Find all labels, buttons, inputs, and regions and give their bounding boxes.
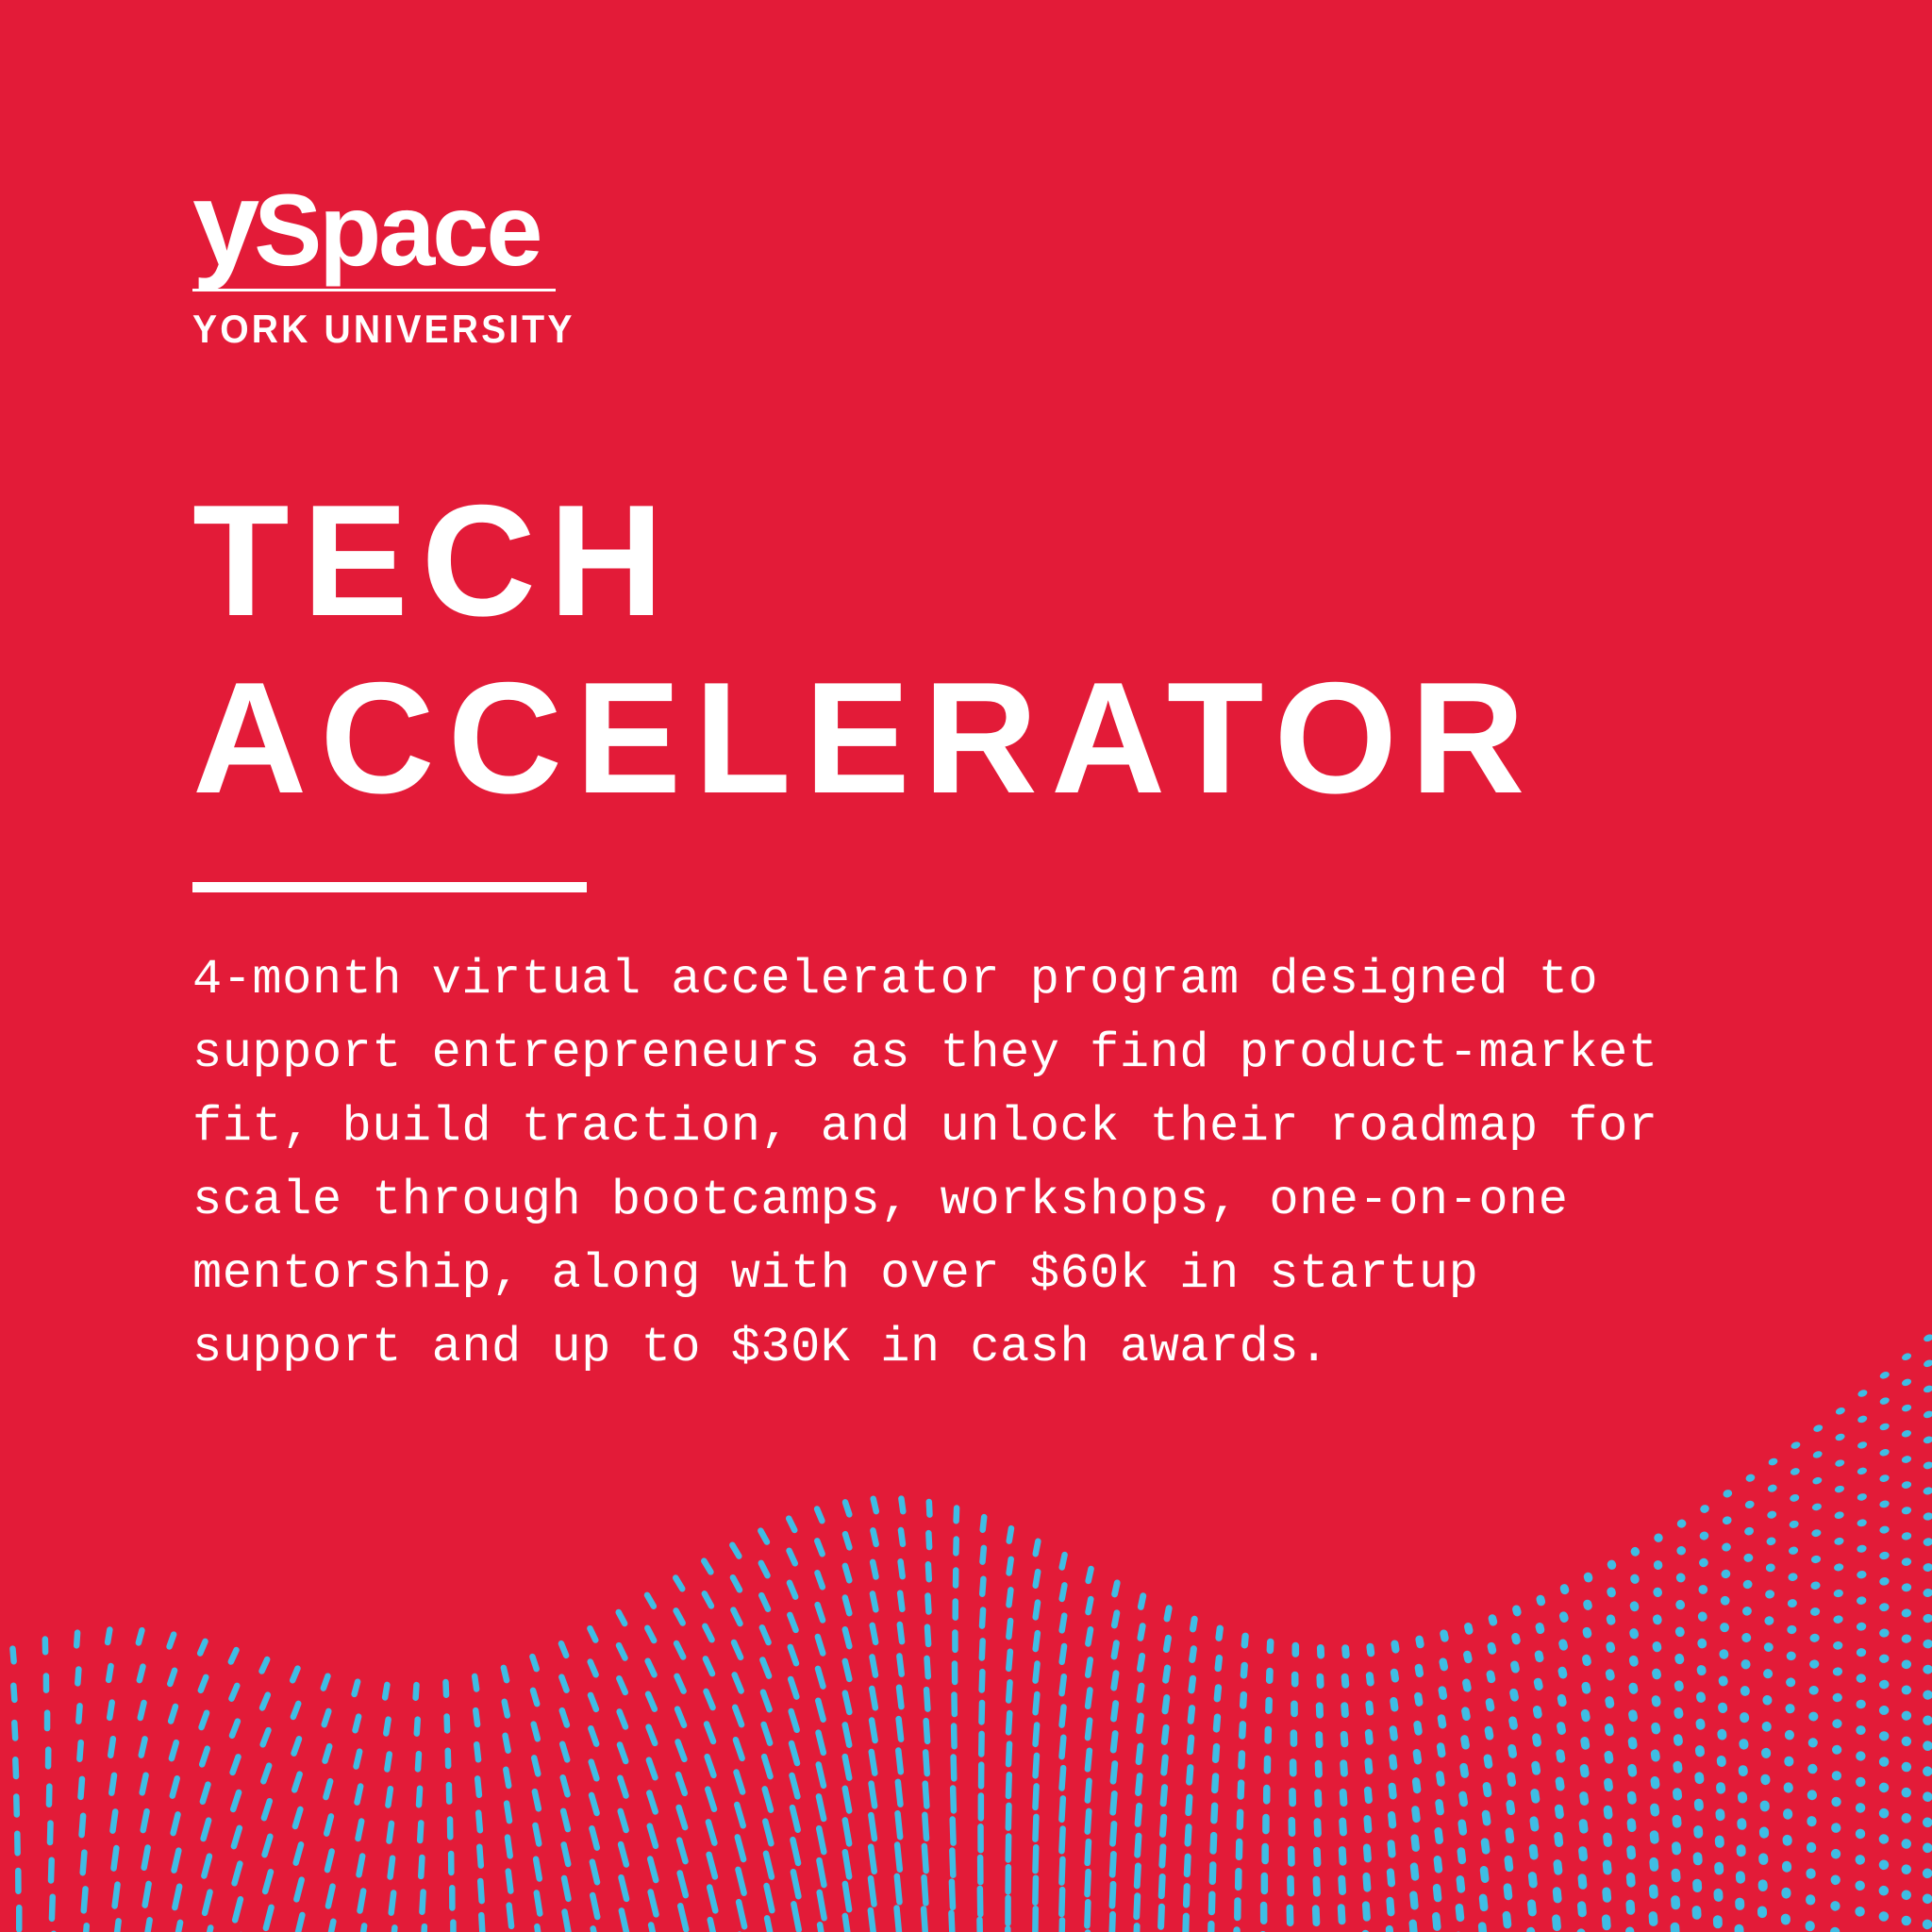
page-title-line-2: ACCELERATOR [192, 649, 1796, 826]
logo-subtitle: YORK UNIVERSITY [192, 307, 543, 352]
logo-y-glyph: y [192, 157, 254, 291]
page-title: TECH ACCELERATOR [192, 472, 1796, 826]
brand-logo: ySpace YORK UNIVERSITY [192, 168, 570, 352]
page-title-line-1: TECH [192, 472, 1796, 649]
logo-wordmark: ySpace [192, 168, 570, 281]
poster-canvas: ySpace YORK UNIVERSITY TECH ACCELERATOR … [0, 0, 1932, 1932]
title-divider-rule [192, 882, 587, 892]
logo-space-text: Space [254, 173, 540, 287]
program-description: 4-month virtual accelerator program desi… [192, 943, 1815, 1385]
